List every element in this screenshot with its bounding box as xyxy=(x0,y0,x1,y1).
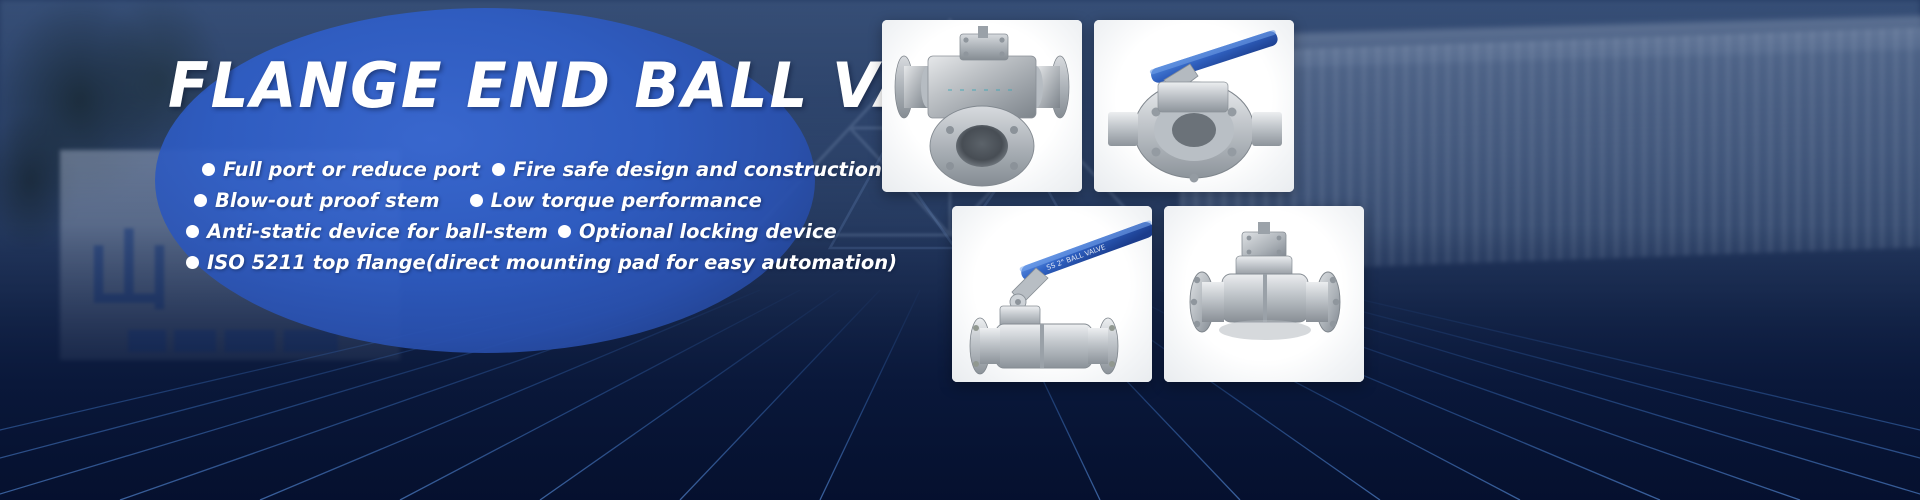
bullet-dot-icon xyxy=(202,163,215,176)
flanged-ball-valve-blue-lever-side-view-image: SS 2" BALL VALVE xyxy=(952,206,1152,382)
feature-label: Anti-static device for ball-stem xyxy=(207,220,548,243)
flanged-ball-valve-with-mounting-pad-image xyxy=(1164,206,1364,382)
product-banner: 山 xyxy=(0,0,1920,500)
product-photo-2[interactable] xyxy=(1094,20,1294,192)
feature-item: Blow-out proof stem xyxy=(194,189,440,212)
feature-label: Fire safe design and construction xyxy=(513,158,882,181)
feature-item: Fire safe design and construction xyxy=(492,158,882,181)
feature-label: Optional locking device xyxy=(579,220,837,243)
feature-item: ISO 5211 top flange(direct mounting pad … xyxy=(186,251,897,274)
feature-label: ISO 5211 top flange(direct mounting pad … xyxy=(207,251,897,274)
feature-item: Low torque performance xyxy=(470,189,762,212)
bullet-dot-icon xyxy=(558,225,571,238)
product-photo-1[interactable] xyxy=(882,20,1082,192)
product-photo-4[interactable] xyxy=(1164,206,1364,382)
feature-item: Full port or reduce port xyxy=(202,158,480,181)
bullet-dot-icon xyxy=(194,194,207,207)
bullet-dot-icon xyxy=(470,194,483,207)
feature-row: Anti-static device for ball-stem Optiona… xyxy=(186,220,826,251)
feature-row: ISO 5211 top flange(direct mounting pad … xyxy=(186,251,826,282)
feature-list: Full port or reduce port Fire safe desig… xyxy=(186,158,826,282)
feature-label: Low torque performance xyxy=(491,189,762,212)
feature-row: Blow-out proof stem Low torque performan… xyxy=(186,189,826,220)
product-photo-3[interactable]: SS 2" BALL VALVE xyxy=(952,206,1152,382)
three-way-flanged-ball-valve-top-view-image xyxy=(882,20,1082,192)
feature-label: Blow-out proof stem xyxy=(215,189,440,212)
two-piece-flanged-ball-valve-blue-handle-top-image xyxy=(1094,20,1294,192)
feature-label: Full port or reduce port xyxy=(223,158,480,181)
bullet-dot-icon xyxy=(186,256,199,269)
feature-item: Optional locking device xyxy=(558,220,837,243)
bullet-dot-icon xyxy=(186,225,199,238)
bullet-dot-icon xyxy=(492,163,505,176)
feature-row: Full port or reduce port Fire safe desig… xyxy=(186,158,826,189)
feature-item: Anti-static device for ball-stem xyxy=(186,220,548,243)
